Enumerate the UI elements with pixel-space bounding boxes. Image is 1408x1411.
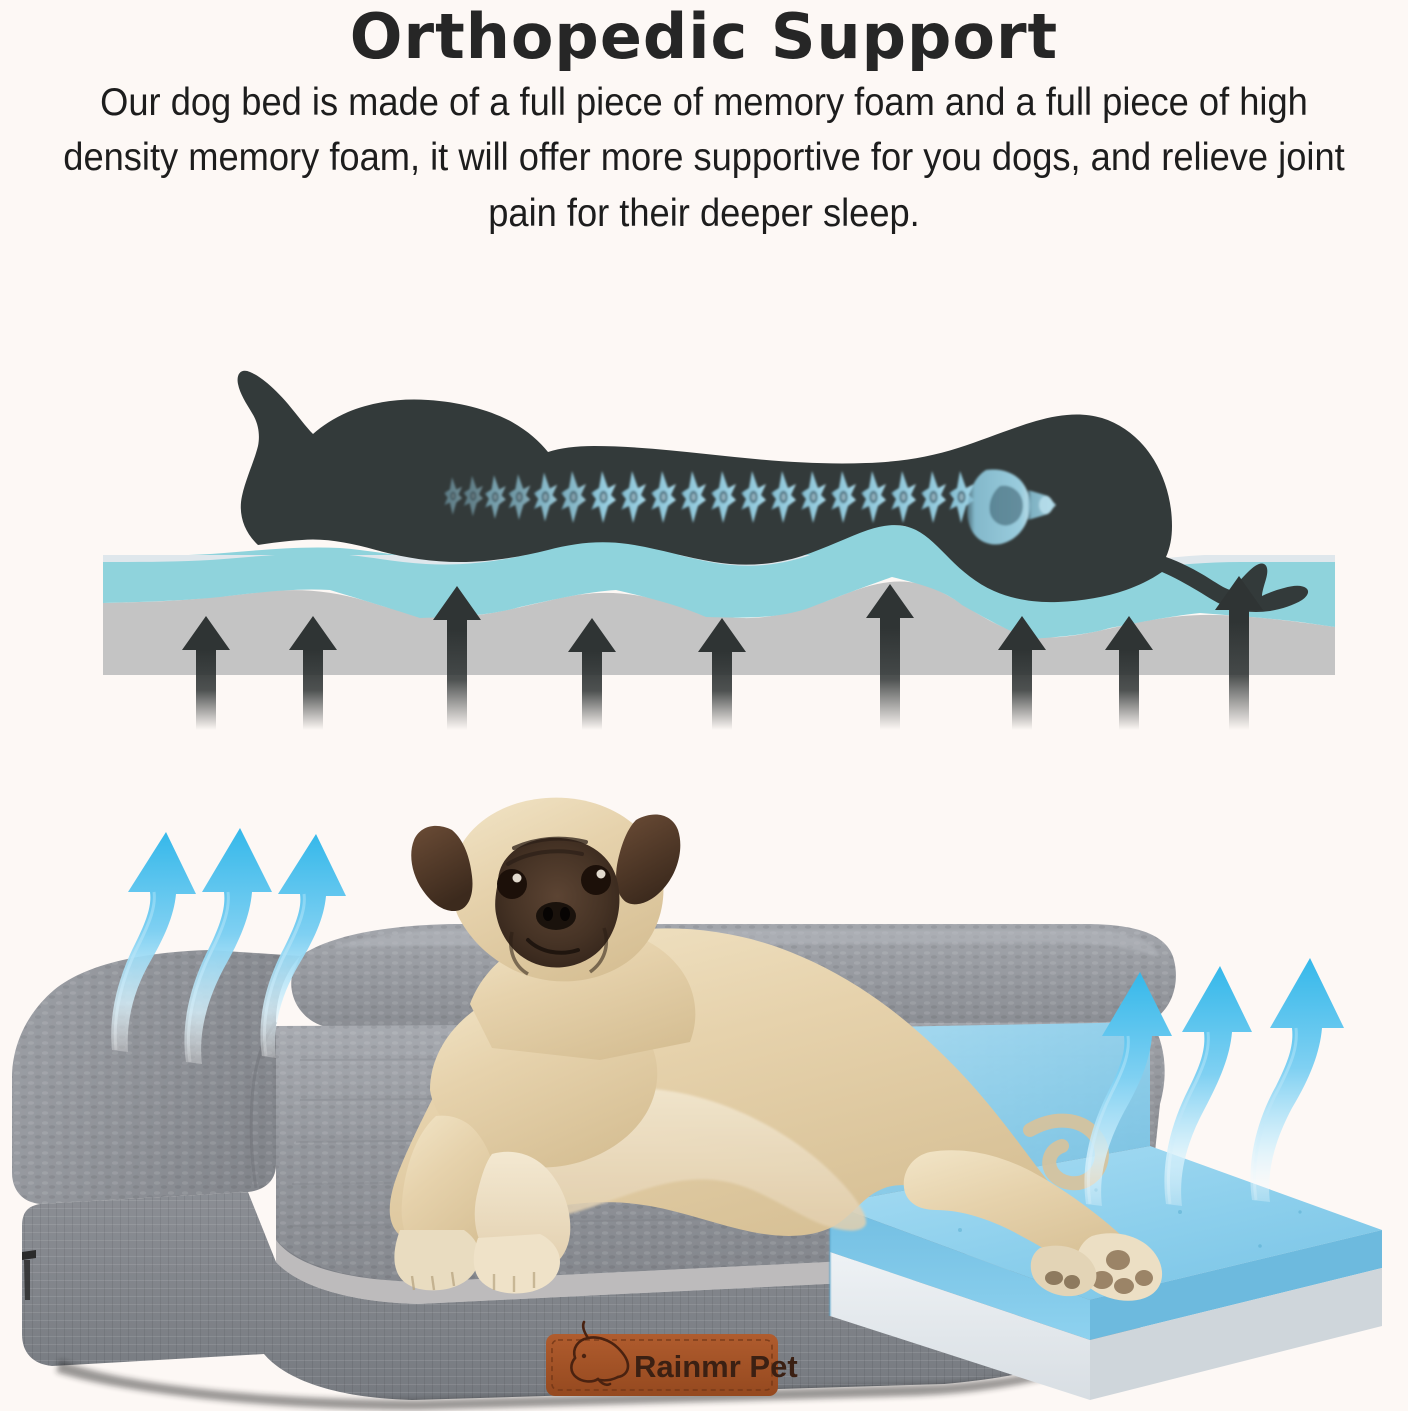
header-block: Orthopedic Support Our dog bed is made o… bbox=[0, 0, 1408, 241]
dog-nose bbox=[536, 902, 576, 930]
brand-label-text: Rainmr Pet bbox=[634, 1349, 798, 1384]
dog-ear-left bbox=[411, 826, 472, 911]
page-description: Our dog bed is made of a full piece of m… bbox=[58, 75, 1351, 241]
page-title: Orthopedic Support bbox=[0, 4, 1408, 75]
orthopedic-support-diagram bbox=[0, 300, 1408, 730]
bed-left-bolster bbox=[12, 950, 300, 1204]
airflow-arrow bbox=[1250, 958, 1344, 1202]
product-photo-scene: Rainmr Pet bbox=[0, 760, 1408, 1411]
